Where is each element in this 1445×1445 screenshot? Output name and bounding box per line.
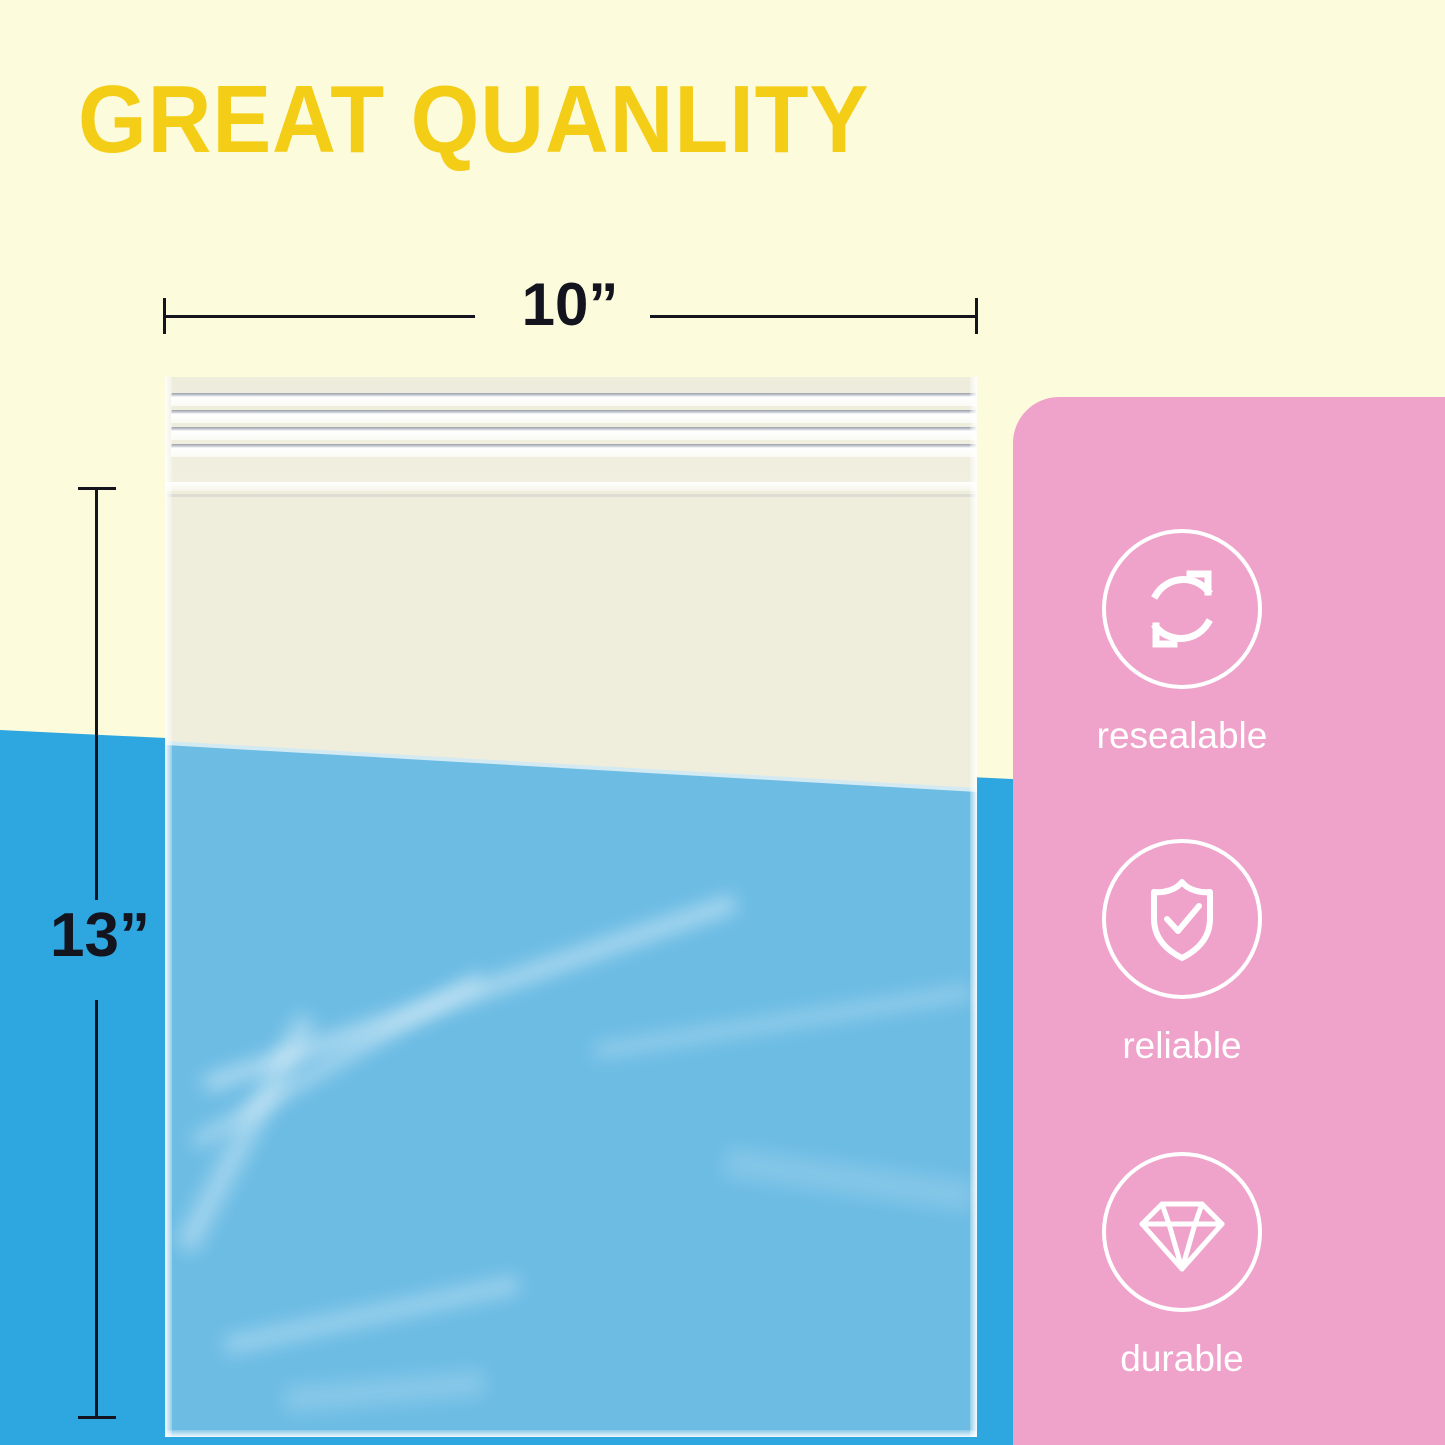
diamond-icon xyxy=(1102,1152,1262,1312)
height-dimension-label: 13” xyxy=(30,905,170,967)
height-dim-line-bottom xyxy=(95,1000,98,1418)
page-title: GREAT QUANLITY xyxy=(78,72,869,168)
zipper-gloss-4 xyxy=(171,448,977,457)
feature-label: reliable xyxy=(1013,1027,1351,1064)
feature-item-durable: durable xyxy=(1013,1152,1351,1377)
width-dimension-label: 10” xyxy=(500,275,640,335)
feature-label: resealable xyxy=(1013,717,1351,754)
infographic-canvas: GREAT QUANLITY 10” xyxy=(0,0,1445,1445)
product-bag xyxy=(165,377,977,1437)
bag-seam-line xyxy=(165,494,977,497)
bag-zipper-block xyxy=(165,377,977,489)
shield-check-icon xyxy=(1102,839,1262,999)
height-dim-cap-bottom xyxy=(78,1416,116,1419)
feature-label: durable xyxy=(1013,1340,1351,1377)
refresh-cycle-icon xyxy=(1102,529,1262,689)
zipper-gloss-2 xyxy=(171,414,977,423)
height-dim-line-top xyxy=(95,487,98,900)
zipper-gloss-3 xyxy=(171,431,977,440)
feature-item-reliable: reliable xyxy=(1013,839,1351,1064)
bag-edge-bottom xyxy=(165,1430,977,1437)
feature-item-resealable: resealable xyxy=(1013,529,1351,754)
width-dim-cap-right xyxy=(975,298,978,334)
width-dim-line-right xyxy=(650,315,977,318)
width-dim-line-left xyxy=(163,315,475,318)
bag-seam-highlight xyxy=(165,482,977,491)
features-panel: resealable reliable xyxy=(1013,397,1445,1445)
zipper-gloss-1 xyxy=(171,397,977,406)
